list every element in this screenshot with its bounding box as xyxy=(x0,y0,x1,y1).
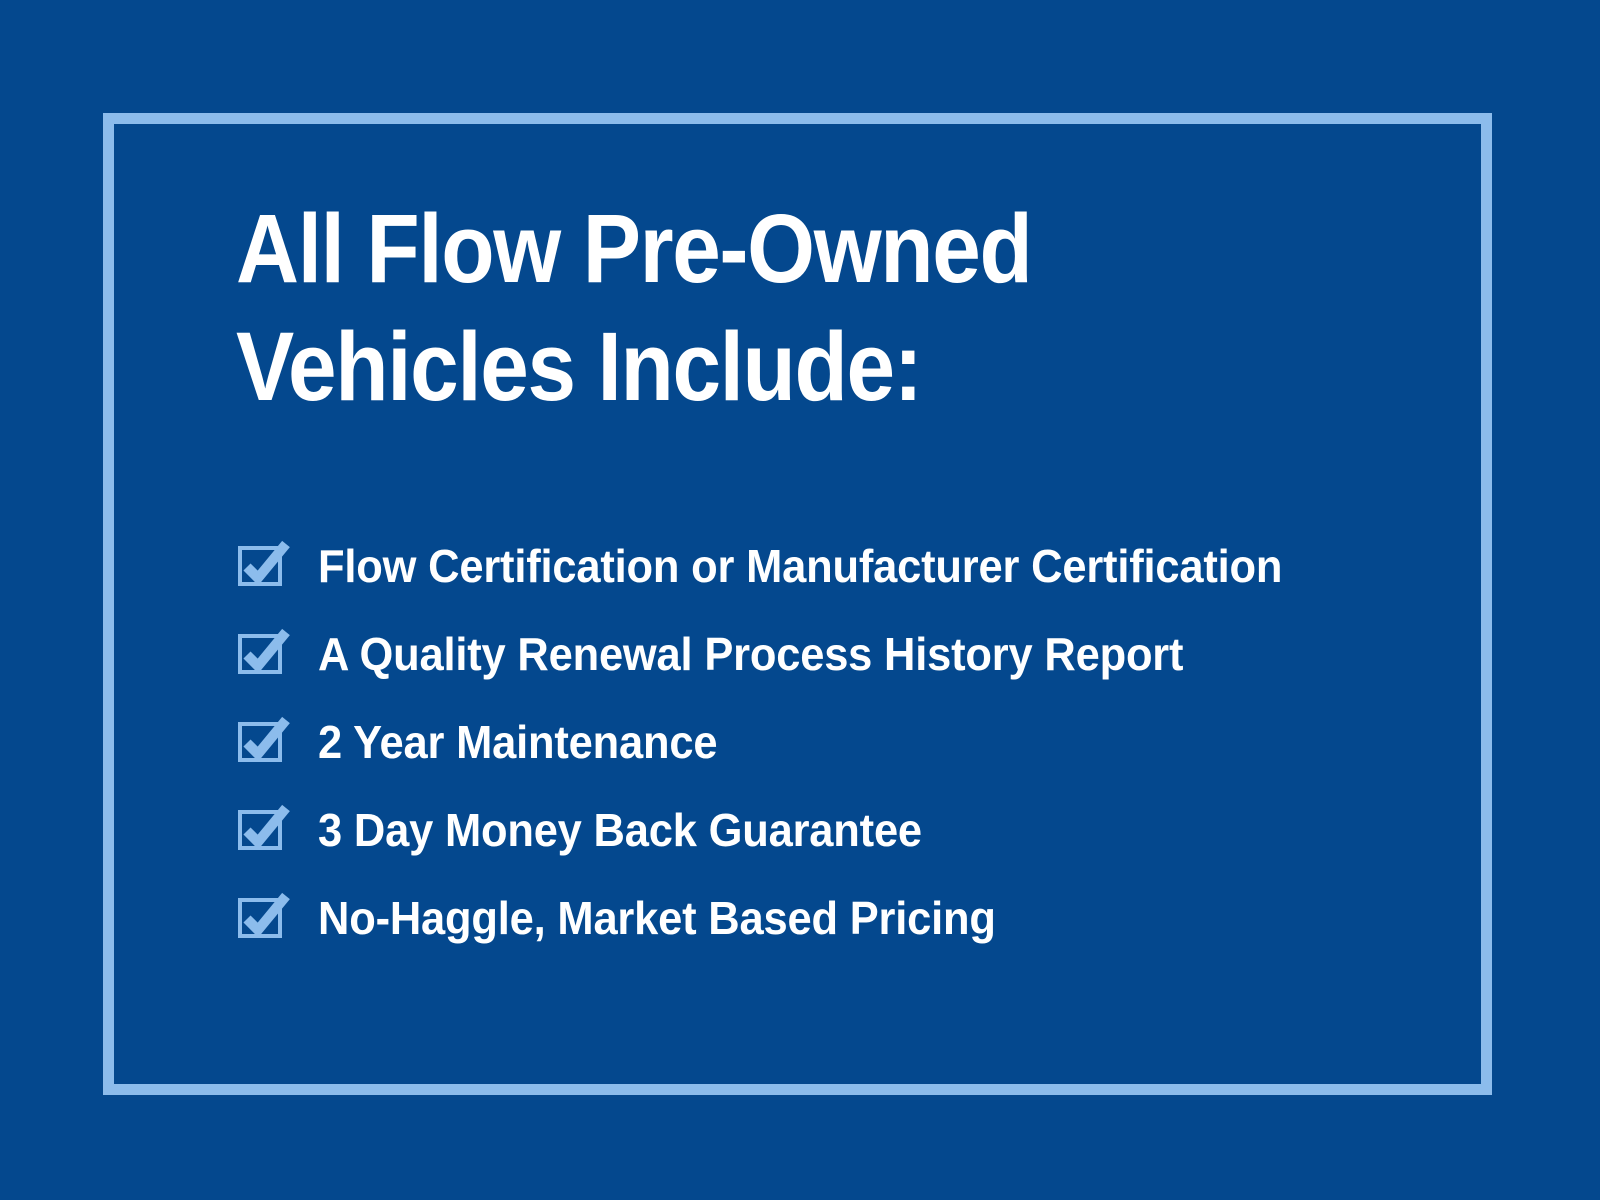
list-item-label: 3 Day Money Back Guarantee xyxy=(318,804,922,856)
checked-checkbox-icon xyxy=(236,540,288,592)
checked-checkbox-icon xyxy=(236,716,288,768)
page-title-line-2: Vehicles Include: xyxy=(236,308,1316,426)
list-item: No-Haggle, Market Based Pricing xyxy=(236,874,1436,962)
list-item-label: 2 Year Maintenance xyxy=(318,716,717,768)
list-item-label: Flow Certification or Manufacturer Certi… xyxy=(318,540,1282,592)
list-item: 2 Year Maintenance xyxy=(236,698,1436,786)
list-item: A Quality Renewal Process History Report xyxy=(236,610,1436,698)
promo-poster: All Flow Pre-Owned Vehicles Include: Flo… xyxy=(0,0,1600,1200)
page-title-line-1: All Flow Pre-Owned xyxy=(236,190,1316,308)
list-item-label: No-Haggle, Market Based Pricing xyxy=(318,892,996,944)
checked-checkbox-icon xyxy=(236,804,288,856)
checked-checkbox-icon xyxy=(236,628,288,680)
checked-checkbox-icon xyxy=(236,892,288,944)
poster-content: All Flow Pre-Owned Vehicles Include: Flo… xyxy=(236,190,1436,962)
page-title: All Flow Pre-Owned Vehicles Include: xyxy=(236,190,1316,426)
list-item: Flow Certification or Manufacturer Certi… xyxy=(236,522,1436,610)
list-item-label: A Quality Renewal Process History Report xyxy=(318,628,1183,680)
list-item: 3 Day Money Back Guarantee xyxy=(236,786,1436,874)
benefits-list: Flow Certification or Manufacturer Certi… xyxy=(236,522,1436,962)
